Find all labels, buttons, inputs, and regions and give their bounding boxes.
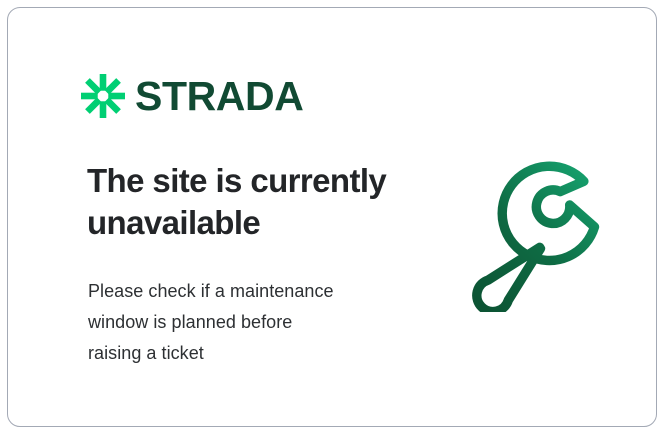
page-description: Please check if a maintenance window is … (88, 276, 398, 369)
status-card: STRADA The site is currently unavailable… (7, 7, 657, 427)
description-line: raising a ticket (88, 338, 398, 369)
page-title: The site is currently unavailable (87, 160, 427, 244)
error-page: STRADA The site is currently unavailable… (0, 0, 666, 436)
brand-wordmark: STRADA (135, 76, 303, 117)
description-line: Please check if a maintenance (88, 276, 398, 307)
asterisk-star-icon (81, 74, 125, 118)
wrench-icon (463, 160, 615, 312)
maintenance-illustration (463, 160, 615, 312)
brand-logo: STRADA (81, 74, 303, 118)
description-line: window is planned before (88, 307, 398, 338)
